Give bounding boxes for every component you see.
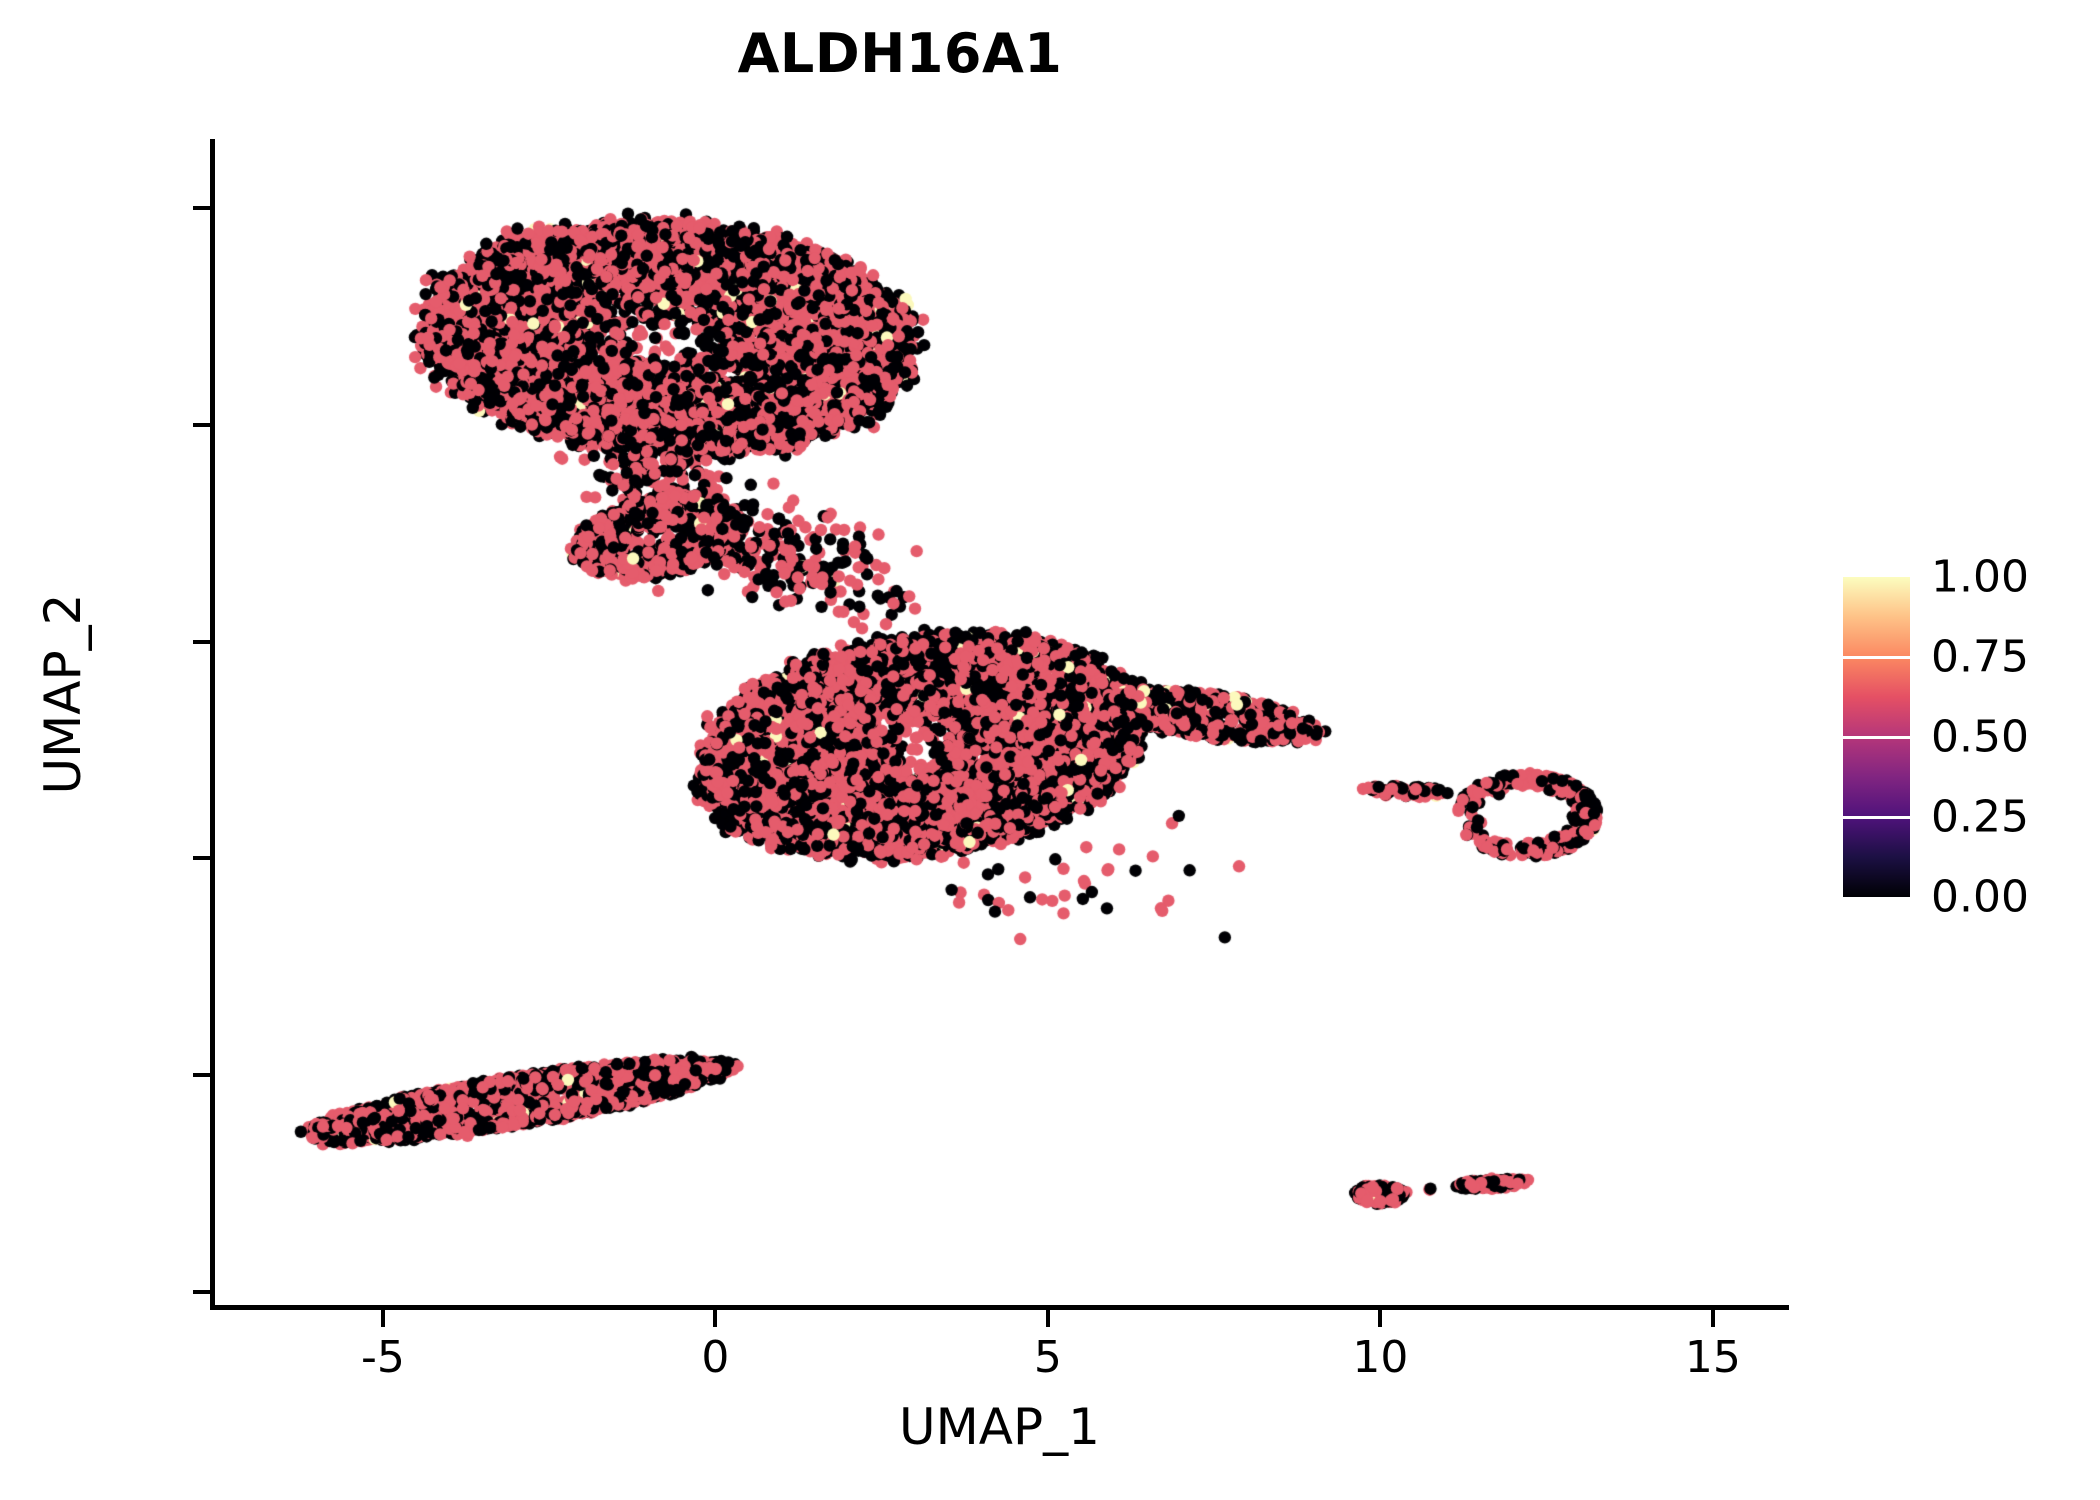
colorbar-tick-label: 0.50 bbox=[1931, 712, 2029, 763]
y-tick-mark bbox=[193, 1290, 210, 1294]
x-tick-label: -5 bbox=[283, 1332, 483, 1383]
y-tick-mark bbox=[193, 1073, 210, 1077]
x-tick-mark bbox=[1711, 1310, 1715, 1327]
x-tick-mark bbox=[1046, 1310, 1050, 1327]
y-tick-mark bbox=[193, 206, 210, 210]
colorbar-tick-label: 0.25 bbox=[1931, 792, 2029, 843]
x-tick-label: 10 bbox=[1280, 1332, 1480, 1383]
y-axis-spine bbox=[210, 139, 215, 1310]
colorbar-tick-label: 1.00 bbox=[1931, 552, 2029, 603]
x-tick-mark bbox=[713, 1310, 717, 1327]
x-tick-mark bbox=[1378, 1310, 1382, 1327]
x-tick-label: 15 bbox=[1613, 1332, 1813, 1383]
colorbar-tick-mark bbox=[1843, 736, 1910, 739]
scatter-canvas bbox=[210, 139, 1786, 1307]
colorbar-tick-label: 0.75 bbox=[1931, 632, 2029, 683]
y-tick-mark bbox=[193, 640, 210, 644]
y-axis-label: UMAP_2 bbox=[34, 110, 92, 1278]
x-axis-spine bbox=[210, 1305, 1789, 1310]
y-tick-mark bbox=[193, 856, 210, 860]
umap-feature-plot: ALDH16A1 20151050-5 -5051015 UMAP_1 UMAP… bbox=[0, 0, 2100, 1500]
x-tick-mark bbox=[381, 1310, 385, 1327]
page-title: ALDH16A1 bbox=[0, 22, 1800, 85]
y-tick-mark bbox=[193, 423, 210, 427]
x-axis-label: UMAP_1 bbox=[210, 1398, 1789, 1456]
x-tick-label: 5 bbox=[948, 1332, 1148, 1383]
colorbar-tick-mark bbox=[1843, 816, 1910, 819]
x-tick-label: 0 bbox=[615, 1332, 815, 1383]
colorbar-tick-mark bbox=[1843, 656, 1910, 659]
colorbar-tick-label: 0.00 bbox=[1931, 872, 2029, 923]
colorbar: 1.000.750.500.250.00 bbox=[1843, 577, 2083, 897]
